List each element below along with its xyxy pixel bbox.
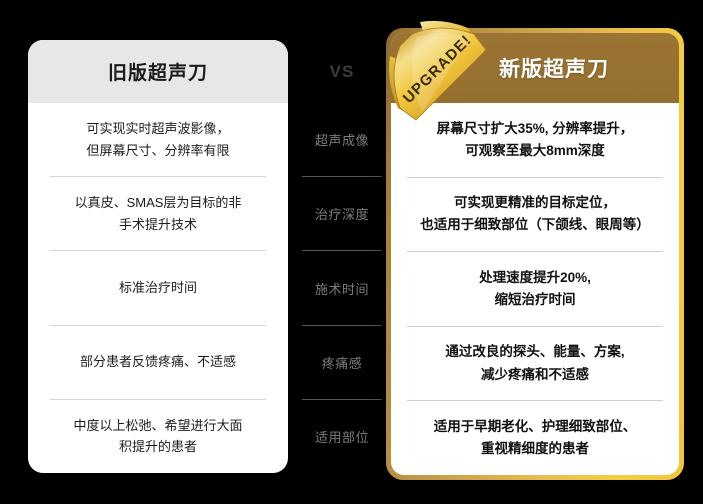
old-row-treatment-depth: 以真皮、SMAS层为目标的非手术提升技术 bbox=[50, 177, 266, 251]
new-model-body: 屏幕尺寸扩大35%, 分辨率提升，可观察至最大8mm深度 可实现更精准的目标定位… bbox=[391, 103, 679, 475]
new-model-card: 新版超声刀 屏幕尺寸扩大35%, 分辨率提升，可观察至最大8mm深度 可实现更精… bbox=[386, 28, 684, 480]
criteria-list: 超声成像 治疗深度 施术时间 疼痛感 适用部位 bbox=[296, 103, 388, 473]
criteria-treatment-depth: 治疗深度 bbox=[302, 177, 382, 251]
comparison-table-stage: 旧版超声刀 可实现实时超声波影像，但屏幕尺寸、分辨率有限 以真皮、SMAS层为目… bbox=[0, 0, 703, 504]
criteria-applicable-area: 适用部位 bbox=[302, 400, 382, 473]
old-model-body: 可实现实时超声波影像，但屏幕尺寸、分辨率有限 以真皮、SMAS层为目标的非手术提… bbox=[28, 103, 288, 473]
vs-cell: VS bbox=[296, 40, 388, 103]
old-model-header: 旧版超声刀 bbox=[28, 40, 288, 103]
new-model-card-inner: 新版超声刀 屏幕尺寸扩大35%, 分辨率提升，可观察至最大8mm深度 可实现更精… bbox=[391, 33, 679, 475]
new-row-procedure-time: 处理速度提升20%,缩短治疗时间 bbox=[407, 252, 663, 327]
criteria-pain-level: 疼痛感 bbox=[302, 326, 382, 400]
new-model-header: 新版超声刀 bbox=[391, 33, 679, 103]
old-model-card: 旧版超声刀 可实现实时超声波影像，但屏幕尺寸、分辨率有限 以真皮、SMAS层为目… bbox=[28, 40, 288, 473]
old-row-ultrasound-imaging: 可实现实时超声波影像，但屏幕尺寸、分辨率有限 bbox=[50, 103, 266, 177]
new-model-title: 新版超声刀 bbox=[499, 53, 609, 83]
vs-label: VS bbox=[330, 62, 355, 82]
new-row-treatment-depth: 可实现更精准的目标定位，也适用于细致部位（下颌线、眼周等） bbox=[407, 178, 663, 253]
old-row-pain-level: 部分患者反馈疼痛、不适感 bbox=[50, 326, 266, 400]
old-row-applicable-area: 中度以上松弛、希望进行大面积提升的患者 bbox=[50, 400, 266, 473]
new-row-applicable-area: 适用于早期老化、护理细致部位、重视精细度的患者 bbox=[407, 401, 663, 475]
new-row-pain-level: 通过改良的探头、能量、方案,减少疼痛和不适感 bbox=[407, 327, 663, 402]
old-model-title: 旧版超声刀 bbox=[108, 58, 208, 85]
criteria-ultrasound-imaging: 超声成像 bbox=[302, 103, 382, 177]
new-row-ultrasound-imaging: 屏幕尺寸扩大35%, 分辨率提升，可观察至最大8mm深度 bbox=[407, 103, 663, 178]
old-row-procedure-time: 标准治疗时间 bbox=[50, 251, 266, 325]
criteria-column: VS 超声成像 治疗深度 施术时间 疼痛感 适用部位 bbox=[296, 40, 388, 473]
criteria-procedure-time: 施术时间 bbox=[302, 251, 382, 325]
